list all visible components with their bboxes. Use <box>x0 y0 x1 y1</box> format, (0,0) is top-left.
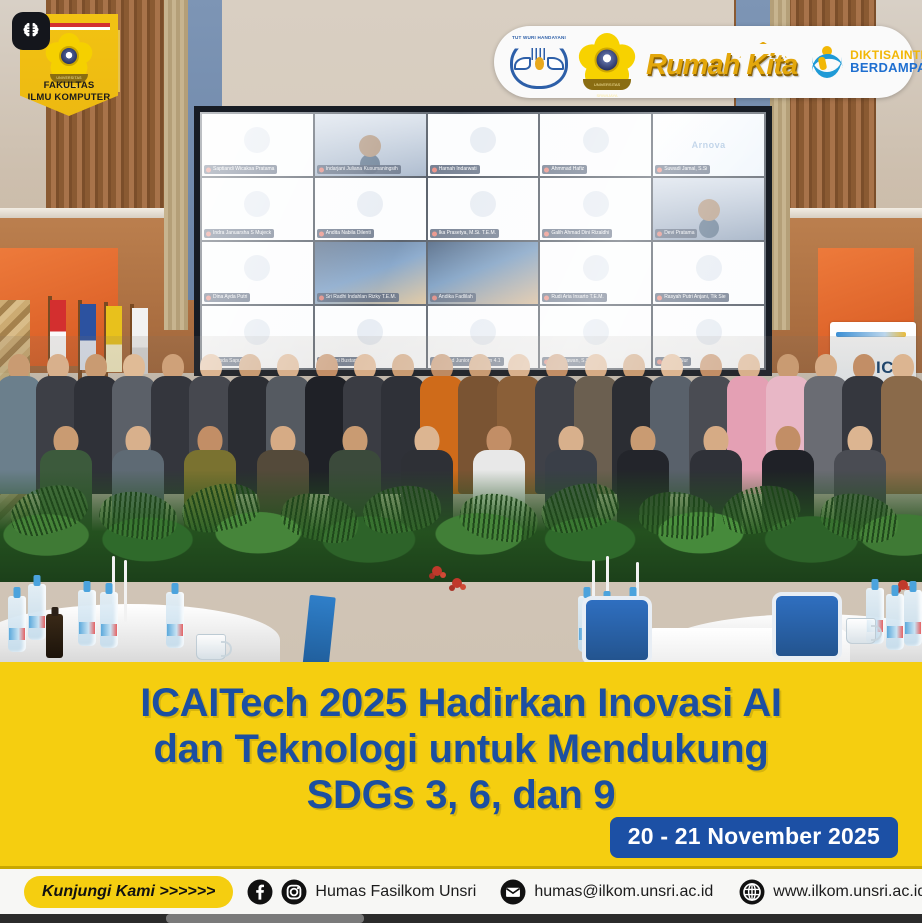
video-tile: Indarjani Juliana Kusumaningsih <box>315 114 426 176</box>
video-tile: Rasyah Putri Anjani, Tik Sie <box>653 242 764 304</box>
social-handle-item[interactable]: Humas Fasilkom Unsri <box>247 879 476 905</box>
tut-wuri-handayani-logo: TUT WURI HANDAYANI <box>510 35 568 89</box>
straw <box>124 560 127 622</box>
led-video-wall: Saptiandi Wicaksa Pratama Indarjani Juli… <box>200 112 766 370</box>
red-flower <box>898 580 908 590</box>
faculty-badge-line1: FAKULTAS <box>20 80 118 91</box>
video-tile: Rudi Aria Insarto T.E.M. <box>540 242 651 304</box>
tut-wuri-caption: TUT WURI HANDAYANI <box>510 35 568 40</box>
video-tile: Harnah Indarwati <box>428 114 539 176</box>
email-text: humas@ilkom.unsri.ac.id <box>534 883 713 901</box>
red-flower <box>452 578 462 588</box>
video-tile: Dina Ayda Putri <box>202 242 313 304</box>
dark-bottle <box>46 614 63 658</box>
caption-panel: ICAITech 2025 Hadirkan Inovasi AI dan Te… <box>0 662 922 866</box>
visit-us-pill[interactable]: Kunjungi Kami >>>>>> <box>24 876 233 908</box>
video-tile: Devi Pratama <box>653 178 764 240</box>
title-line-3: SDGs 3, 6, dan 9 <box>24 772 898 818</box>
video-tile: ArnovaSuwadi Jamal, S.Si <box>653 114 764 176</box>
drinking-glass <box>846 618 876 644</box>
horizontal-scrollbar[interactable] <box>0 914 922 923</box>
social-media-poster: Saptiandi Wicaksa Pratama Indarjani Juli… <box>0 0 922 923</box>
rumah-kita-logo: Rumah Kita <box>646 43 797 82</box>
universitas-sriwijaya-logo: UNIVERSITAS SRIWIJAYA <box>578 34 636 90</box>
diktisaintek-mark-icon <box>809 45 845 79</box>
water-bottle <box>166 592 184 648</box>
chair <box>772 592 842 660</box>
partner-logo-bar: TUT WURI HANDAYANI UNIVERSITAS SRIWIJAYA… <box>494 26 914 98</box>
title-line-1: ICAITech 2025 Hadirkan Inovasi AI <box>24 680 898 726</box>
title-line-2: dan Teknologi untuk Mendukung <box>24 726 898 772</box>
website-text: www.ilkom.unsri.ac.id <box>773 883 922 901</box>
video-tile: Ika Prasetya, M.Si. T.E.M. <box>428 178 539 240</box>
page-title: ICAITech 2025 Hadirkan Inovasi AI dan Te… <box>0 680 922 818</box>
unsri-flower-logo: UNIVERSITAS SRIWIJAYA <box>46 34 92 80</box>
water-bottle <box>8 596 26 652</box>
event-photo: Saptiandi Wicaksa Pratama Indarjani Juli… <box>0 0 922 666</box>
curtain-left <box>164 0 188 330</box>
social-handle-text: Humas Fasilkom Unsri <box>315 883 476 901</box>
video-tile: Indra Januarsha S Mujeck <box>202 178 313 240</box>
video-tile: Galih Ahmad Dini Rizaldhi <box>540 178 651 240</box>
video-tile: Sri Radhi Indahlan Rizky T.E.M. <box>315 242 426 304</box>
event-date-badge: 20 - 21 November 2025 <box>610 817 898 858</box>
water-bottle <box>886 594 904 650</box>
video-tile: Andita Nabila Dilenti <box>315 178 426 240</box>
video-tile: Andika Fadlilah <box>428 242 539 304</box>
chair <box>582 596 652 664</box>
faculty-badge-line2: ILMU KOMPUTER <box>20 92 118 103</box>
email-icon[interactable] <box>500 879 526 905</box>
brain-icon <box>20 20 42 42</box>
website-item[interactable]: www.ilkom.unsri.ac.id <box>739 879 922 905</box>
contact-footer: Kunjungi Kami >>>>>> Humas Fasilkom Unsr… <box>0 866 922 914</box>
blue-booklet <box>302 595 336 666</box>
water-bottle <box>28 584 46 640</box>
water-bottle <box>78 590 96 646</box>
unsri-logo-ribbon: UNIVERSITAS SRIWIJAYA <box>583 79 631 90</box>
drinking-glass <box>196 634 226 660</box>
scrollbar-thumb[interactable] <box>166 914 364 923</box>
brain-app-icon[interactable] <box>12 12 50 50</box>
instagram-icon[interactable] <box>281 879 307 905</box>
email-item[interactable]: humas@ilkom.unsri.ac.id <box>500 879 713 905</box>
diktisaintek-line2: BERDAMPAK <box>850 61 922 75</box>
red-flower <box>432 566 442 576</box>
globe-icon[interactable] <box>739 879 765 905</box>
diktisaintek-berdampak-logo: DIKTISAINTEK BERDAMPAK <box>809 45 922 79</box>
video-tile: Saptiandi Wicaksa Pratama <box>202 114 313 176</box>
video-conference-grid: Saptiandi Wicaksa Pratama Indarjani Juli… <box>200 112 766 370</box>
video-tile: Ahmmad Hafiz <box>540 114 651 176</box>
water-bottle <box>904 590 922 646</box>
facebook-icon[interactable] <box>247 879 273 905</box>
water-bottle <box>100 592 118 648</box>
